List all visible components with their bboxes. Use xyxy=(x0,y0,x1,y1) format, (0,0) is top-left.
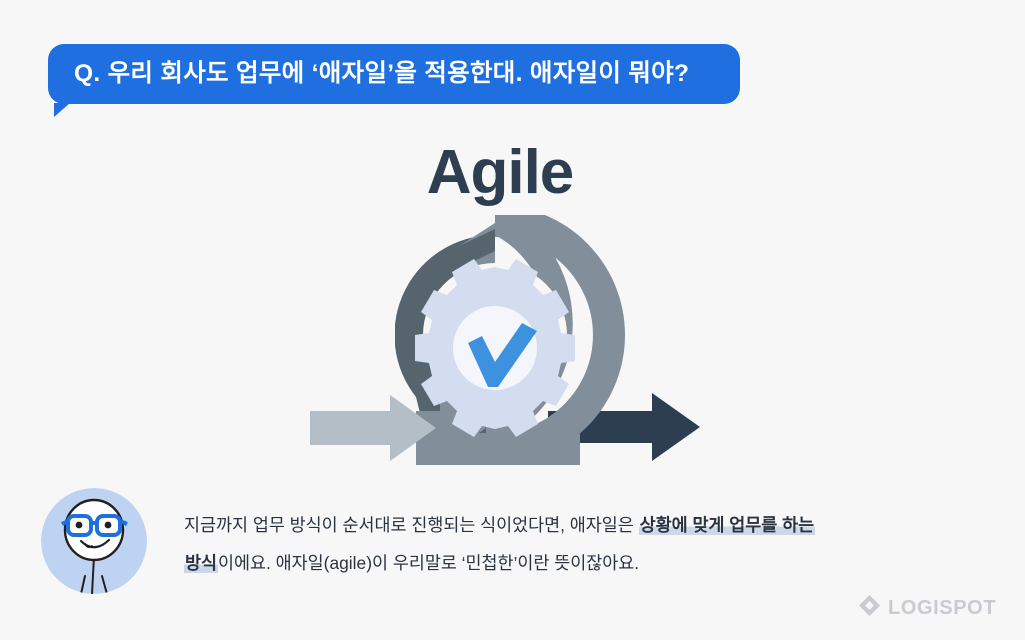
body-copy-line2-plain: 이에요. 애자일(agile)이 우리말로 ‘민첩한’이란 뜻이잖아요. xyxy=(218,553,639,573)
question-bubble-body: Q. 우리 회사도 업무에 ‘애자일’을 적용한대. 애자일이 뭐야? xyxy=(48,44,740,104)
avatar-eye-right xyxy=(105,522,112,529)
logispot-logo-text: LOGISPOT xyxy=(888,598,996,618)
diamond-icon xyxy=(858,594,881,622)
page-title: Agile xyxy=(0,142,1000,204)
body-copy: 지금까지 업무 방식이 순서대로 진행되는 식이었다면, 애자일은 상황에 맞게… xyxy=(184,506,984,582)
logispot-logo: LOGISPOT xyxy=(858,594,996,622)
question-bubble: Q. 우리 회사도 업무에 ‘애자일’을 적용한대. 애자일이 뭐야? xyxy=(48,44,740,104)
question-bubble-text: Q. 우리 회사도 업무에 ‘애자일’을 적용한대. 애자일이 뭐야? xyxy=(74,62,689,87)
agile-cycle-illustration xyxy=(290,215,710,475)
mid-band-fill xyxy=(430,433,580,465)
avatar-eye-left xyxy=(76,522,83,529)
avatar xyxy=(41,488,147,594)
body-copy-highlight-1: 상황에 맞게 업무를 하는 xyxy=(639,515,816,535)
question-bubble-tail xyxy=(54,103,80,117)
body-copy-line1-plain: 지금까지 업무 방식이 순서대로 진행되는 식이었다면, 애자일은 xyxy=(184,515,639,535)
body-copy-highlight-2: 방식 xyxy=(184,553,218,573)
avatar-head xyxy=(65,500,123,560)
